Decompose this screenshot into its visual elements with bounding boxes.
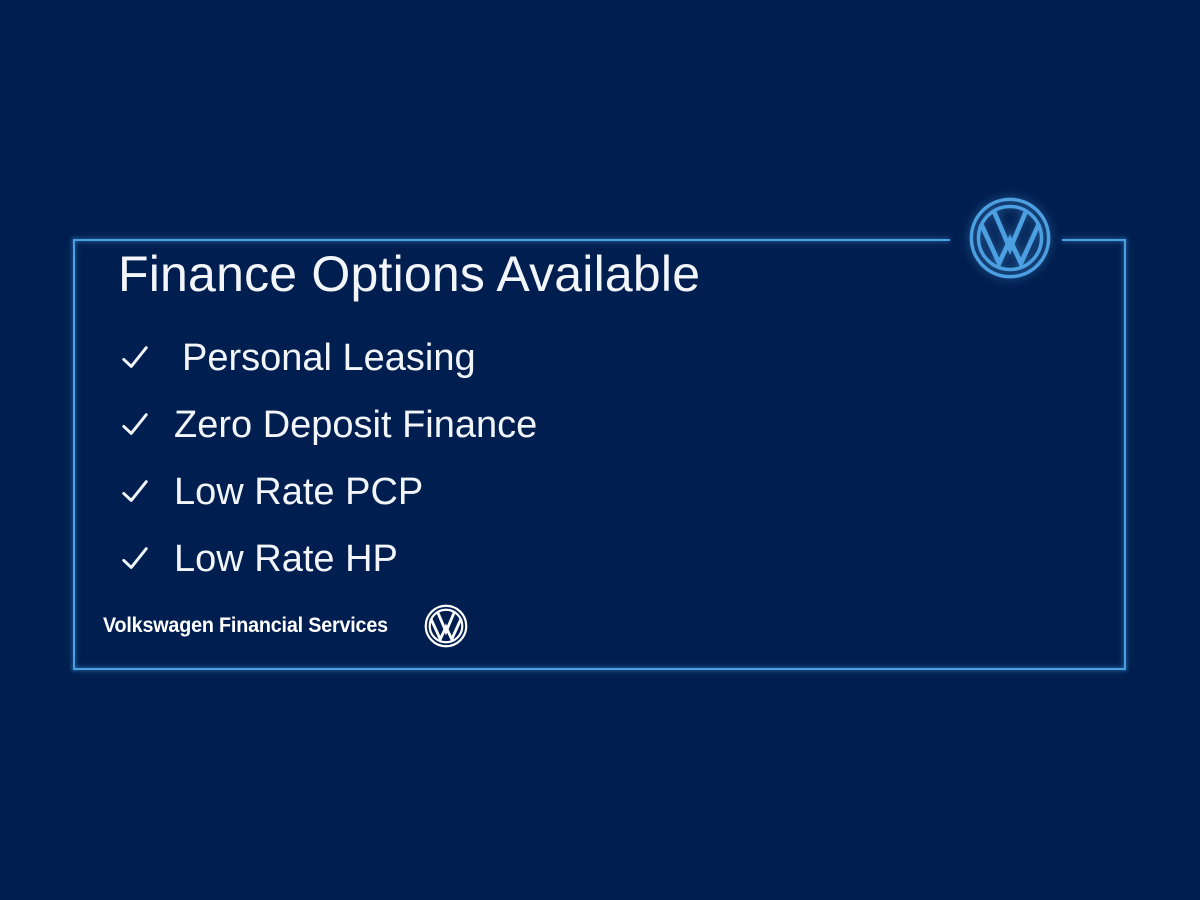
list-item: Personal Leasing [118, 325, 1098, 392]
vw-logo-icon [424, 604, 468, 648]
brand-lockup: Volkswagen Financial Services [103, 604, 468, 648]
list-item-label: Low Rate PCP [174, 471, 423, 514]
list-item-label: Zero Deposit Finance [174, 404, 537, 447]
list-item: Low Rate PCP [118, 459, 1098, 526]
check-icon [118, 475, 152, 509]
frame-top-left-segment [73, 239, 950, 241]
check-icon [118, 341, 152, 375]
list-item-label: Low Rate HP [174, 538, 398, 581]
brand-wordmark: Volkswagen Financial Services [103, 614, 388, 638]
list-item-label: Personal Leasing [174, 337, 476, 380]
list-item: Zero Deposit Finance [118, 392, 1098, 459]
check-icon [118, 408, 152, 442]
check-icon [118, 542, 152, 576]
page-title: Finance Options Available [118, 248, 1098, 301]
slide-content: Finance Options Available Personal Leasi… [118, 248, 1098, 593]
frame-left-edge [73, 239, 75, 670]
slide-canvas: Finance Options Available Personal Leasi… [0, 0, 1200, 900]
list-item: Low Rate HP [118, 526, 1098, 593]
finance-options-list: Personal Leasing Zero Deposit Finance Lo… [118, 325, 1098, 593]
frame-top-right-segment [1062, 239, 1126, 241]
frame-bottom-edge [73, 668, 1126, 670]
frame-right-edge [1124, 239, 1126, 670]
